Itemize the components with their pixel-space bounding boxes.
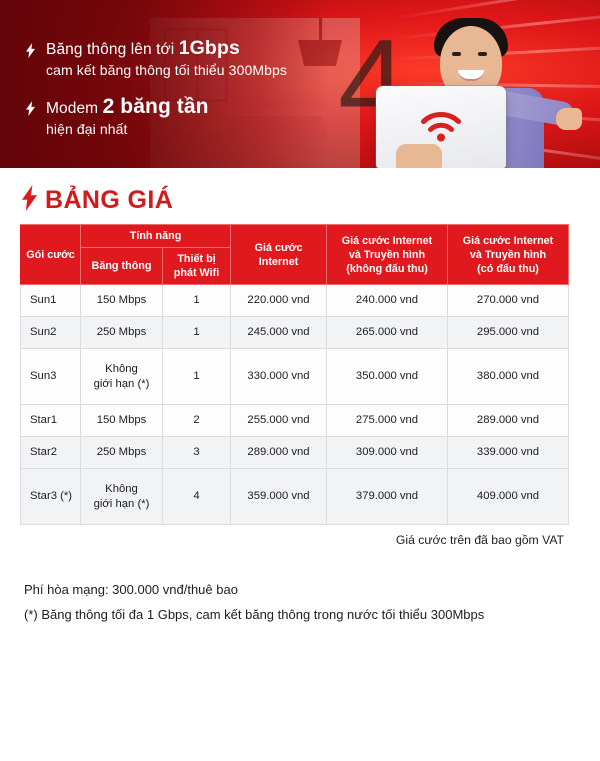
table-row[interactable]: Star2 250 Mbps 3 289.000 vnd 309.000 vnd…	[21, 437, 569, 469]
person-eye-left	[452, 52, 461, 56]
cell-bandwidth-line2: giới hạn (*)	[83, 377, 160, 392]
col-header-internet-price: Giá cước Internet	[231, 225, 327, 285]
col-header-tv-no-decoder: Giá cước Internet và Truyền hình (không …	[327, 225, 448, 285]
vat-note: Giá cước trên đã bao gồm VAT	[20, 533, 568, 547]
cell-tv-no-decoder: 379.000 vnd	[327, 469, 448, 525]
col-header-tv-no-decoder-line2: và Truyền hình	[329, 248, 445, 262]
cell-tv-no-decoder: 309.000 vnd	[327, 437, 448, 469]
table-row[interactable]: Star1 150 Mbps 2 255.000 vnd 275.000 vnd…	[21, 405, 569, 437]
cell-tv-with-decoder: 295.000 vnd	[448, 317, 569, 349]
note-installation-fee: Phí hòa mạng: 300.000 vnđ/thuê bao	[24, 577, 600, 602]
price-table-wrapper: Gói cước Tính năng Giá cước Internet Giá…	[20, 224, 568, 525]
col-header-wifi-device: Thiết bị phát Wifi	[163, 248, 231, 285]
cell-package: Sun3	[21, 349, 81, 405]
col-header-tv-no-decoder-line3: (không đấu thu)	[329, 262, 445, 276]
bullet-1-subline: cam kết băng thông tối thiểu 300Mbps	[46, 60, 287, 80]
banner-bullet-list: Băng thông lên tới 1Gbps cam kết băng th…	[26, 38, 287, 155]
cell-tv-no-decoder: 350.000 vnd	[327, 349, 448, 405]
cell-wifi-device: 1	[163, 349, 231, 405]
cell-package: Sun2	[21, 317, 81, 349]
promo-banner: 4	[0, 0, 600, 168]
cell-bandwidth: Không giới hạn (*)	[81, 349, 163, 405]
cell-bandwidth: 150 Mbps	[81, 285, 163, 317]
footer-notes: Phí hòa mạng: 300.000 vnđ/thuê bao (*) B…	[24, 577, 600, 627]
cell-package: Sun1	[21, 285, 81, 317]
cell-internet-price: 330.000 vnd	[231, 349, 327, 405]
col-header-tv-with-decoder-line2: và Truyền hình	[450, 248, 566, 262]
cell-package: Star2	[21, 437, 81, 469]
cell-package: Star3 (*)	[21, 469, 81, 525]
price-table: Gói cước Tính năng Giá cước Internet Giá…	[20, 224, 569, 525]
cell-tv-with-decoder: 289.000 vnd	[448, 405, 569, 437]
person-eye-right	[478, 52, 487, 56]
bullet-2-subline: hiện đại nhất	[46, 119, 209, 139]
page-title: BẢNG GIÁ	[45, 186, 173, 215]
bullet-1-prefix: Băng thông lên tới	[46, 41, 179, 58]
col-header-tv-with-decoder: Giá cước Internet và Truyền hình (có đấu…	[448, 225, 569, 285]
table-row[interactable]: Sun2 250 Mbps 1 245.000 vnd 265.000 vnd …	[21, 317, 569, 349]
col-header-wifi-device-line2: phát Wifi	[165, 266, 228, 280]
col-header-tv-with-decoder-line3: (có đấu thu)	[450, 262, 566, 276]
cell-internet-price: 255.000 vnd	[231, 405, 327, 437]
cell-internet-price: 245.000 vnd	[231, 317, 327, 349]
cell-tv-no-decoder: 265.000 vnd	[327, 317, 448, 349]
lightning-bolt-icon	[26, 101, 42, 119]
cell-internet-price: 359.000 vnd	[231, 469, 327, 525]
col-header-bandwidth: Băng thông	[81, 248, 163, 285]
person-with-laptop-photo	[368, 8, 578, 168]
cell-bandwidth: 250 Mbps	[81, 317, 163, 349]
cell-bandwidth: 150 Mbps	[81, 405, 163, 437]
cell-tv-no-decoder: 275.000 vnd	[327, 405, 448, 437]
cell-wifi-device: 2	[163, 405, 231, 437]
col-header-internet-price-line2: Internet	[233, 255, 324, 269]
col-header-features-group: Tính năng	[81, 225, 231, 248]
person-holding-hand	[396, 144, 442, 168]
table-row[interactable]: Star3 (*) Không giới hạn (*) 4 359.000 v…	[21, 469, 569, 525]
bullet-2-highlight: 2 băng tần	[103, 95, 209, 118]
cell-wifi-device: 1	[163, 285, 231, 317]
price-table-head: Gói cước Tính năng Giá cước Internet Giá…	[21, 225, 569, 285]
table-header-row-1: Gói cước Tính năng Giá cước Internet Giá…	[21, 225, 569, 248]
cell-tv-with-decoder: 380.000 vnd	[448, 349, 569, 405]
cell-bandwidth-line2: giới hạn (*)	[83, 497, 160, 512]
table-row[interactable]: Sun1 150 Mbps 1 220.000 vnd 240.000 vnd …	[21, 285, 569, 317]
cell-tv-no-decoder: 240.000 vnd	[327, 285, 448, 317]
banner-bullet-bandwidth: Băng thông lên tới 1Gbps cam kết băng th…	[26, 38, 287, 80]
person-pointing-hand	[556, 108, 582, 130]
cell-tv-with-decoder: 339.000 vnd	[448, 437, 569, 469]
cell-tv-with-decoder: 270.000 vnd	[448, 285, 569, 317]
cell-wifi-device: 1	[163, 317, 231, 349]
cell-bandwidth-line1: Không	[83, 362, 160, 377]
cell-internet-price: 220.000 vnd	[231, 285, 327, 317]
col-header-internet-price-line1: Giá cước	[233, 241, 324, 255]
col-header-package: Gói cước	[21, 225, 81, 285]
cell-wifi-device: 4	[163, 469, 231, 525]
col-header-wifi-device-line1: Thiết bị	[165, 252, 228, 266]
cell-package: Star1	[21, 405, 81, 437]
cell-internet-price: 289.000 vnd	[231, 437, 327, 469]
bullet-2-prefix: Modem	[46, 100, 103, 117]
banner-bullet-modem: Modem 2 băng tần hiện đại nhất	[26, 96, 287, 139]
bullet-1-highlight: 1Gbps	[179, 37, 240, 59]
col-header-tv-no-decoder-line1: Giá cước Internet	[329, 234, 445, 248]
table-row[interactable]: Sun3 Không giới hạn (*) 1 330.000 vnd 35…	[21, 349, 569, 405]
note-bandwidth-asterisk: (*) Băng thông tối đa 1 Gbps, cam kết bă…	[24, 602, 600, 627]
lightning-bolt-icon	[22, 185, 37, 215]
price-table-heading: BẢNG GIÁ	[22, 182, 600, 218]
cell-bandwidth-line1: Không	[83, 482, 160, 497]
cell-bandwidth: 250 Mbps	[81, 437, 163, 469]
cell-bandwidth: Không giới hạn (*)	[81, 469, 163, 525]
price-table-body: Sun1 150 Mbps 1 220.000 vnd 240.000 vnd …	[21, 285, 569, 525]
lightning-bolt-icon	[26, 43, 42, 61]
col-header-tv-with-decoder-line1: Giá cước Internet	[450, 234, 566, 248]
cell-wifi-device: 3	[163, 437, 231, 469]
cell-tv-with-decoder: 409.000 vnd	[448, 469, 569, 525]
